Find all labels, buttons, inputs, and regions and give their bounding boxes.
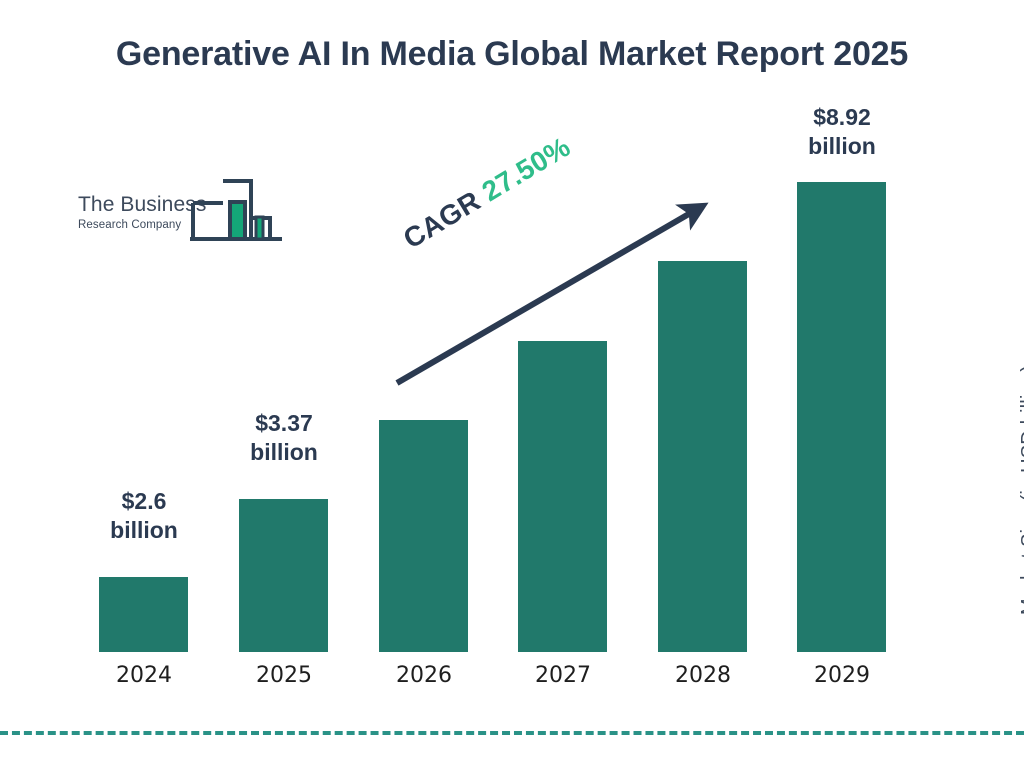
- chart-canvas: Generative AI In Media Global Market Rep…: [0, 0, 1024, 768]
- y-axis-title: Market Size (in USD billion): [1018, 330, 1024, 650]
- cagr-value: 27.50%: [477, 131, 576, 207]
- bar-value-2025-amount: $3.37: [255, 410, 313, 436]
- bar-value-2025-unit: billion: [250, 439, 318, 465]
- bar-value-2024-amount: $2.6: [122, 488, 167, 514]
- bar-value-2024-unit: billion: [110, 517, 178, 543]
- x-tick-2028: 2028: [633, 663, 773, 688]
- cagr-annotation: CAGR 27.50%: [398, 131, 576, 256]
- bar-value-2029-unit: billion: [808, 133, 876, 159]
- bar-2027[interactable]: [518, 341, 607, 652]
- x-tick-2026: 2026: [354, 663, 494, 688]
- bar-2025[interactable]: [239, 499, 328, 652]
- bar-value-2029-amount: $8.92: [813, 104, 871, 130]
- bar-value-2024: $2.6 billion: [74, 487, 214, 546]
- x-tick-2025: 2025: [214, 663, 354, 688]
- bar-2024[interactable]: [99, 577, 188, 652]
- bar-2026[interactable]: [379, 420, 468, 652]
- x-tick-2024: 2024: [74, 663, 214, 688]
- bottom-divider: [0, 731, 1024, 735]
- x-tick-2029: 2029: [772, 663, 912, 688]
- bar-value-2029: $8.92 billion: [772, 103, 912, 162]
- bar-value-2025: $3.37 billion: [214, 409, 354, 468]
- x-tick-2027: 2027: [493, 663, 633, 688]
- bar-2029[interactable]: [797, 182, 886, 652]
- bar-chart-plot: CAGR 27.50% $2.6 billion $3.37 billion $…: [0, 0, 1024, 768]
- bar-2028[interactable]: [658, 261, 747, 652]
- cagr-label: CAGR: [398, 185, 486, 255]
